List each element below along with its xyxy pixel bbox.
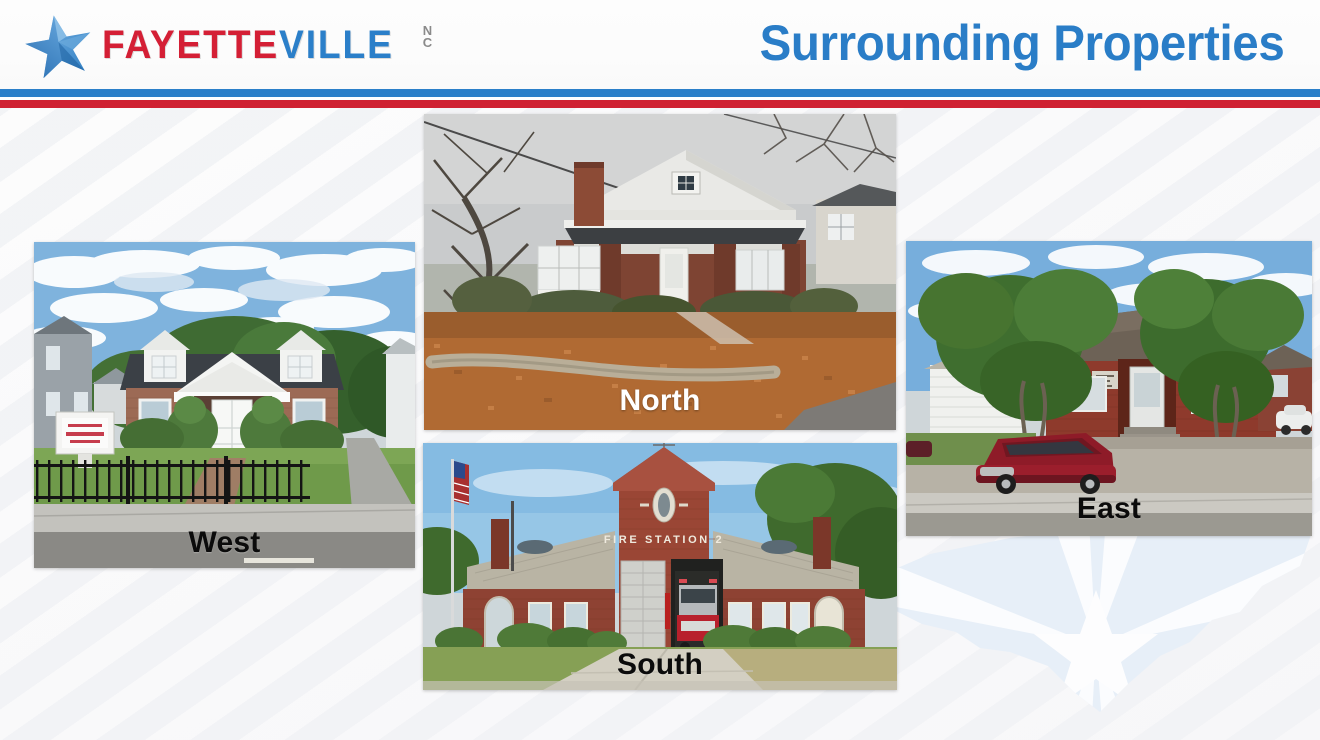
star-icon [22,12,96,78]
page-title: Surrounding Properties [759,14,1284,72]
svg-text:FIRE STATION 2: FIRE STATION 2 [604,534,724,546]
nc-state-watermark-icon [860,516,1320,740]
header-blue-rule [0,89,1320,97]
photo-south[interactable]: FIRE STATION 2 [423,443,897,690]
logo-text-fayette: FAYETTE [102,23,279,67]
header-red-rule [0,100,1320,108]
photo-west[interactable]: West [34,242,415,568]
slide-canvas: FAYETTEVILLE N C Surrounding Properties [0,0,1320,740]
logo-wordmark: FAYETTEVILLE [102,25,394,65]
logo-text-ville: VILLE [279,23,394,67]
fayetteville-logo[interactable]: FAYETTEVILLE N C [22,12,422,78]
photo-north[interactable]: North [424,114,896,430]
logo-state-c: C [423,37,433,49]
logo-state-abbrev: N C [423,25,433,49]
photo-east[interactable]: East [906,241,1312,536]
